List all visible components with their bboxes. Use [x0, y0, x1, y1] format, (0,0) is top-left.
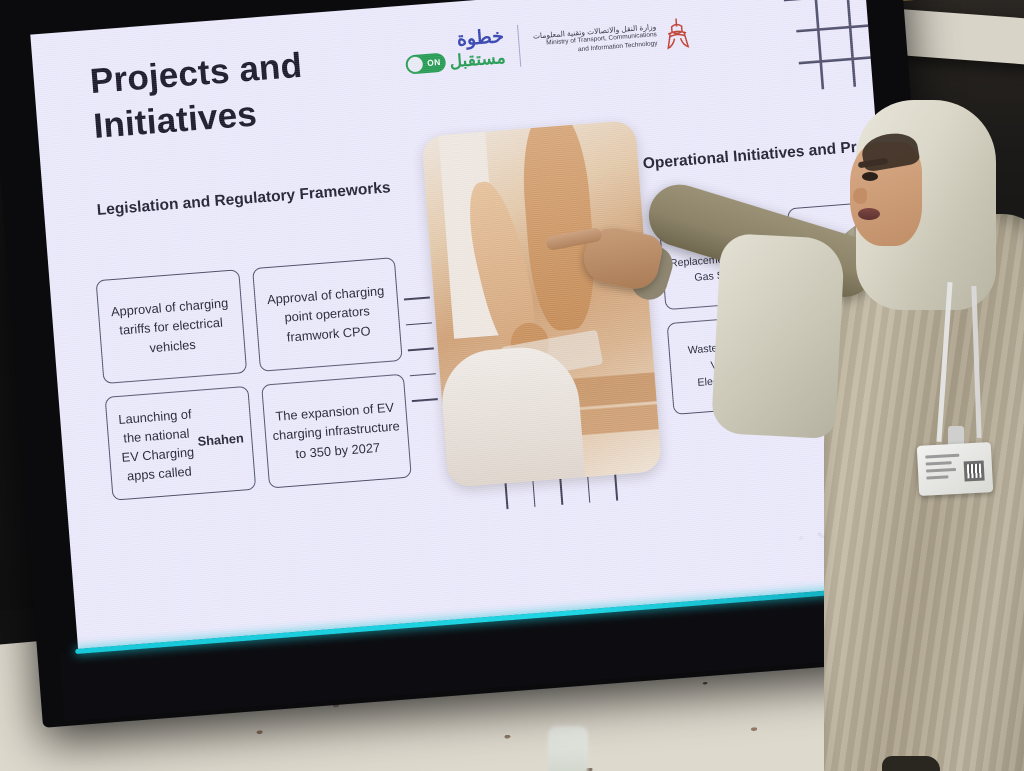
oman-khanjar-emblem-icon	[663, 16, 692, 52]
khutwa-logo: خطوة ON مستقبل	[403, 27, 506, 75]
ministry-text: وزارة النقل والاتصالات وتقنية المعلومات …	[533, 22, 658, 57]
initiative-box-emphasis: Shahen	[197, 429, 245, 452]
presenter-hijab-drape	[711, 233, 845, 439]
khutwa-arabic-bottom: مستقبل	[449, 49, 506, 70]
tick-mark	[587, 477, 591, 503]
initiative-box: The expansion of EV charging infrastruct…	[261, 374, 412, 489]
initiative-box: Approval of charging point operators fra…	[252, 257, 403, 372]
tick-mark	[505, 483, 509, 509]
presenter-head	[856, 100, 996, 270]
tick-mark	[410, 373, 436, 377]
tick-mark	[412, 399, 438, 403]
slide-photo	[421, 120, 662, 488]
tick-mark	[532, 481, 536, 507]
tick-mark	[406, 322, 432, 326]
initiative-box-text: The expansion of EV charging infrastruct…	[270, 398, 402, 465]
water-bottle	[548, 726, 588, 771]
presenter	[706, 96, 1024, 771]
page-title: Projects and Initiatives	[88, 35, 424, 150]
toggle-knob	[407, 56, 423, 72]
tick-mark	[560, 479, 564, 505]
logo-row: خطوة ON مستقبل وزارة النقل والاتصال	[403, 12, 691, 76]
initiative-box-text: Approval of charging point operators fra…	[261, 281, 393, 348]
khutwa-toggle-row: ON مستقبل	[405, 48, 506, 75]
toggle-label: ON	[427, 58, 441, 68]
logo-divider	[517, 25, 521, 67]
grid-decoration-icon	[775, 0, 878, 92]
presenter-eye	[862, 172, 878, 181]
ministry-logo: وزارة النقل والاتصالات وتقنية المعلومات …	[532, 16, 691, 62]
presentation-scene: Projects and Initiatives خطوة ON مستقبل	[0, 0, 1024, 771]
initiative-box: Launching of the national EV Charging ap…	[105, 386, 256, 501]
column-heading-legislation: Legislation and Regulatory Frameworks	[93, 177, 394, 222]
presenter-mouth	[858, 208, 880, 220]
khutwa-arabic-top: خطوة	[456, 27, 504, 50]
tick-marks-left	[404, 296, 438, 402]
initiative-box-text: Approval of charging tariffs for electri…	[105, 293, 237, 360]
presenter-badge	[917, 442, 994, 496]
toggle-switch-icon: ON	[405, 53, 446, 75]
badge-qr-code-icon	[964, 460, 985, 481]
legislation-box-grid: Approval of charging tariffs for electri…	[96, 257, 412, 501]
presenter-nose	[853, 188, 867, 204]
initiative-box: Approval of charging tariffs for electri…	[96, 269, 247, 384]
initiative-box-text: Launching of the national EV Charging ap…	[114, 404, 201, 487]
tick-mark	[408, 348, 434, 352]
slide-photo-wrapper	[421, 120, 662, 488]
tick-mark	[404, 296, 430, 300]
presenter-shoe	[882, 756, 940, 771]
tick-mark	[615, 475, 619, 501]
